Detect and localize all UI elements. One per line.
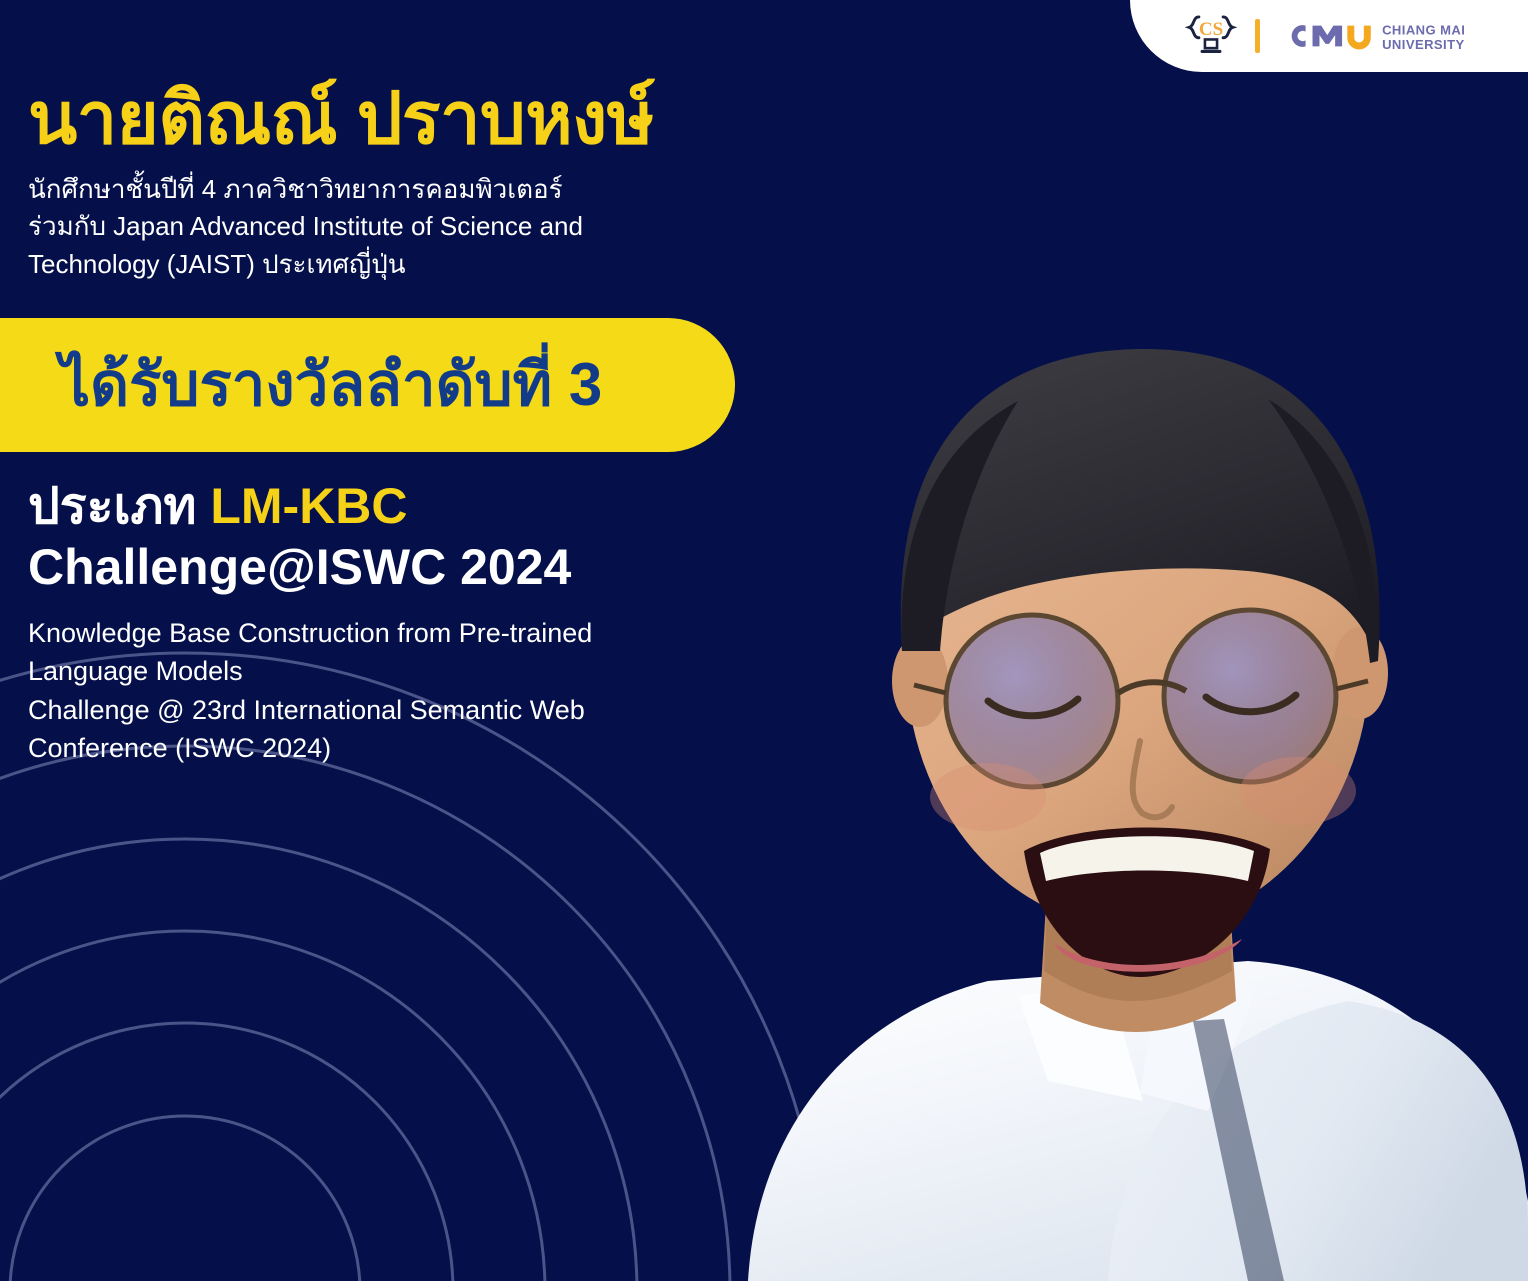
affiliation-line-1: นักศึกษาชั้นปีที่ 4 ภาควิชาวิทยาการคอมพิ… <box>28 171 700 209</box>
description-line-3: Challenge @ 23rd International Semantic … <box>28 691 720 729</box>
category-line-2: Challenge@ISWC 2024 <box>28 537 880 598</box>
award-rank-badge: ได้รับรางวัลลำดับที่ 3 <box>0 318 735 452</box>
affiliation-line-2: ร่วมกับ Japan Advanced Institute of Scie… <box>28 208 700 246</box>
university-logo-panel: CS CHIANG MAI UNIVERSITY <box>1130 0 1528 72</box>
svg-text:CS: CS <box>1198 19 1222 40</box>
cs-department-icon: CS <box>1183 10 1239 62</box>
award-poster: CS CHIANG MAI UNIVERSITY นายติณณ์ ปราบหง… <box>0 0 1528 1281</box>
cmu-logo: CHIANG MAI UNIVERSITY <box>1276 16 1476 56</box>
award-rank-label: ได้รับรางวัลลำดับที่ 3 <box>60 355 602 415</box>
category-highlight: LM-KBC <box>210 478 407 534</box>
award-description: Knowledge Base Construction from Pre-tra… <box>0 598 720 767</box>
poster-content: นายติณณ์ ปราบหงษ์ นักศึกษาชั้นปีที่ 4 ภา… <box>0 0 880 767</box>
description-line-1: Knowledge Base Construction from Pre-tra… <box>28 614 720 652</box>
category-line-1: ประเภท LM-KBC <box>28 476 880 537</box>
logo-divider <box>1255 19 1260 53</box>
affiliation-line-3: Technology (JAIST) ประเทศญี่ปุ่น <box>28 246 700 284</box>
description-line-2: Language Models <box>28 652 720 690</box>
award-category: ประเภท LM-KBC Challenge@ISWC 2024 <box>0 452 880 598</box>
svg-text:UNIVERSITY: UNIVERSITY <box>1382 37 1465 52</box>
awardee-affiliation: นักศึกษาชั้นปีที่ 4 ภาควิชาวิทยาการคอมพิ… <box>0 161 700 284</box>
awardee-name: นายติณณ์ ปราบหงษ์ <box>0 0 880 161</box>
category-prefix: ประเภท <box>28 478 210 534</box>
svg-text:CHIANG MAI: CHIANG MAI <box>1382 22 1465 37</box>
description-line-4: Conference (ISWC 2024) <box>28 729 720 767</box>
